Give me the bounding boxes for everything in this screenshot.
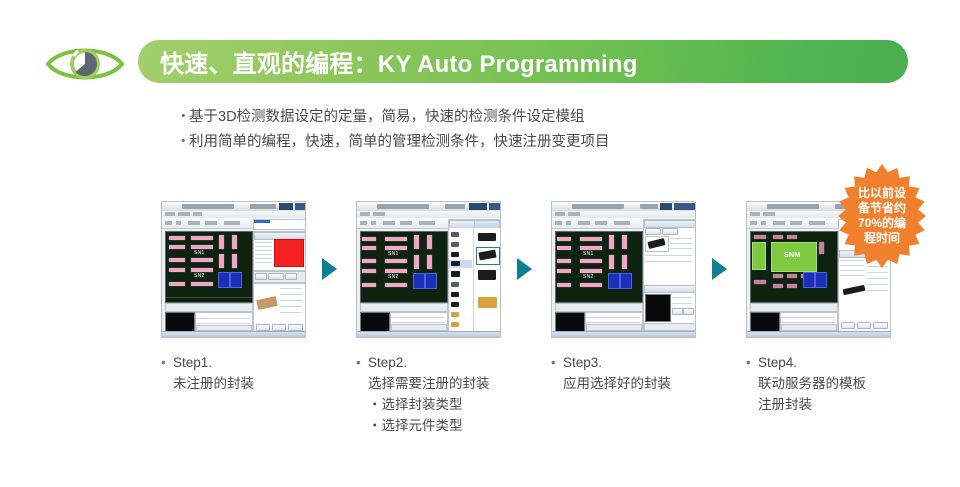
window-statusbar	[162, 331, 305, 337]
pcb-view: SN1 SN2	[555, 231, 643, 303]
pcb-view: SNM	[750, 231, 838, 303]
step2-title-row: •Step2.	[356, 352, 556, 373]
step1-app-screenshot[interactable]: SN1 SN2	[161, 201, 306, 338]
step1-body: 未注册的封装	[161, 373, 361, 394]
step3-caption: •Step3. 应用选择好的封装	[551, 352, 751, 394]
pcb-view: SN1 SN2	[165, 231, 253, 303]
step3-title-row: •Step3.	[551, 352, 751, 373]
step3-body: 应用选择好的封装	[551, 373, 751, 394]
step1-title-row: •Step1.	[161, 352, 361, 373]
step2-app-screenshot[interactable]: SN1 SN2	[356, 201, 501, 338]
window-statusbar	[552, 331, 695, 337]
flow-arrow-3	[712, 258, 727, 280]
step4-caption: •Step4. 联动服务器的模板注册封装	[746, 352, 876, 415]
step2-sub-2: ・选择元件类型	[356, 415, 556, 436]
step2-caption: •Step2. 选择需要注册的封装 ・选择封装类型 ・选择元件类型	[356, 352, 556, 436]
step3-title: Step3.	[563, 355, 602, 370]
window-statusbar	[357, 331, 500, 337]
step3-app-screenshot[interactable]: SN1 SN2	[551, 201, 696, 338]
step2-body: 选择需要注册的封装	[356, 373, 556, 394]
flow-arrow-1	[322, 258, 337, 280]
window-statusbar	[747, 331, 890, 337]
pcb-view: SN1 SN2	[360, 231, 448, 303]
step1-title: Step1.	[173, 355, 212, 370]
step1-caption: •Step1. 未注册的封装	[161, 352, 361, 394]
step-bullet-dot: •	[551, 352, 563, 373]
savings-badge: 比以前设 备节省约 70%的编 程时间	[828, 162, 936, 270]
step2-title: Step2.	[368, 355, 407, 370]
step4-title-row: •Step4.	[746, 352, 876, 373]
step-bullet-dot: •	[356, 352, 368, 373]
flow-arrow-2	[517, 258, 532, 280]
step-bullet-dot: •	[746, 352, 758, 373]
step2-sub-1: ・选择封装类型	[356, 394, 556, 415]
step4-title: Step4.	[758, 355, 797, 370]
step4-body: 联动服务器的模板注册封装	[746, 373, 876, 415]
step-bullet-dot: •	[161, 352, 173, 373]
